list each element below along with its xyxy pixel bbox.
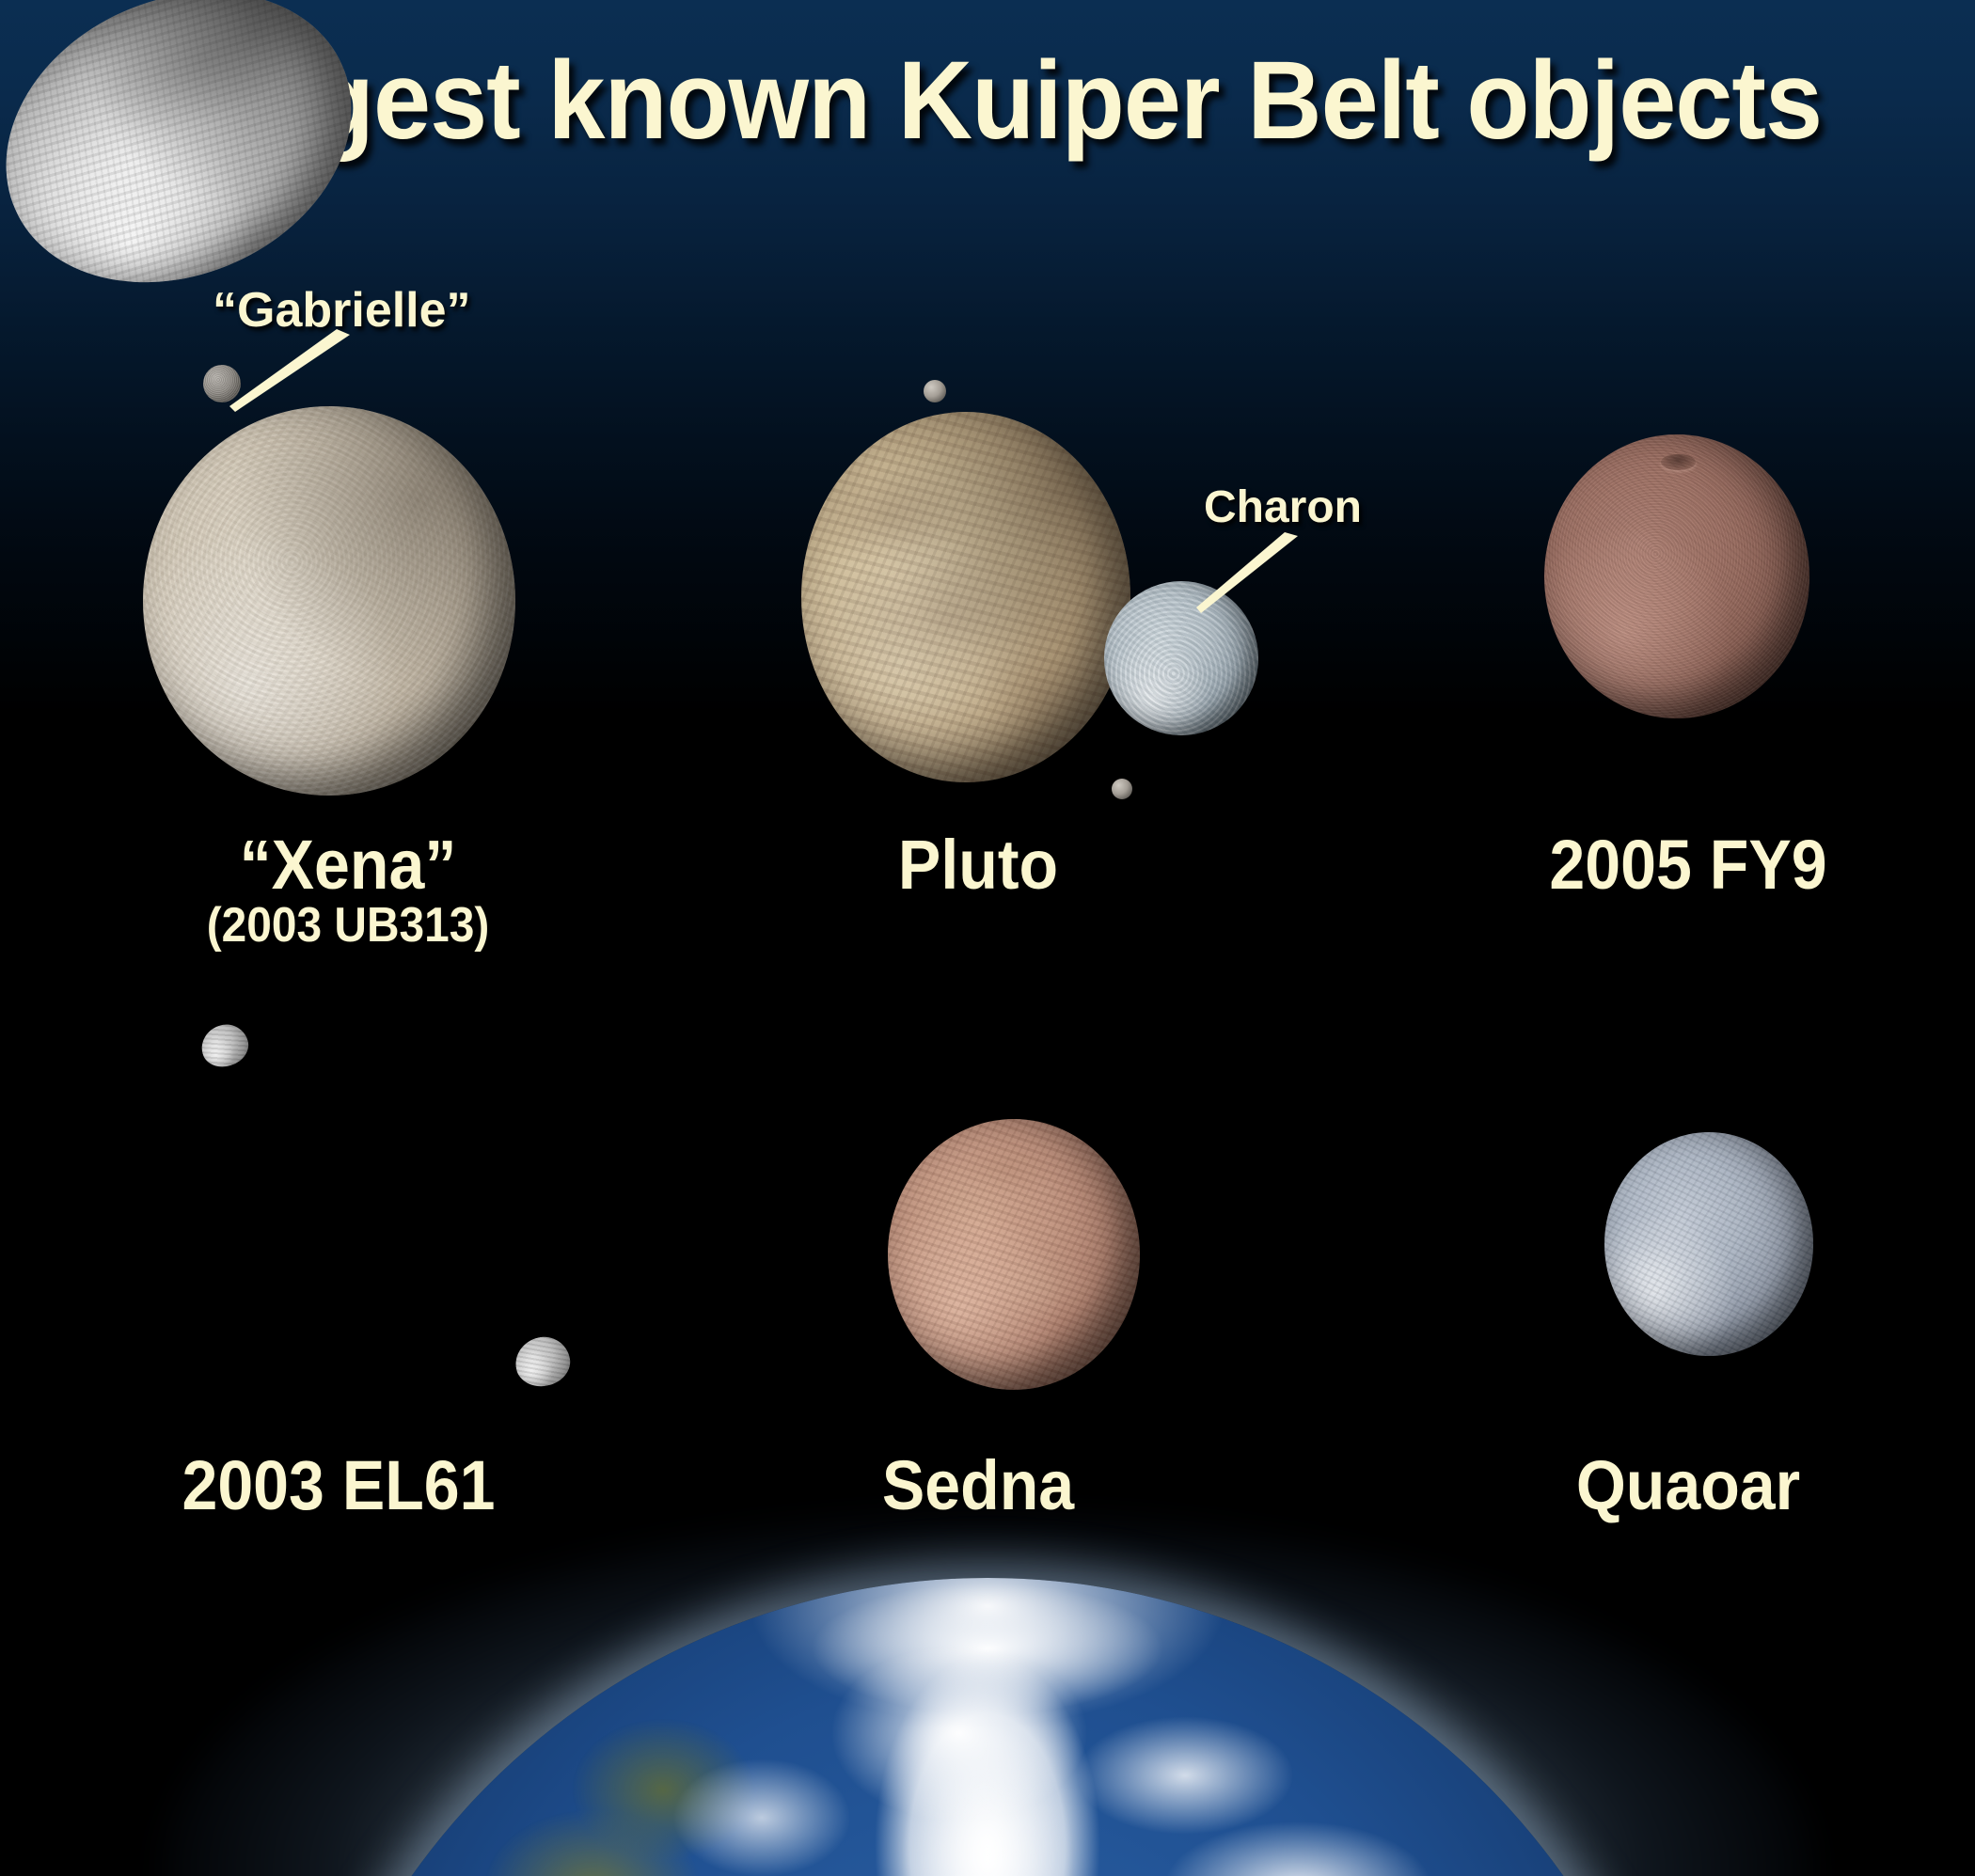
el61-moon2-texture (511, 1332, 575, 1392)
sedna-texture (888, 1119, 1140, 1390)
object-label-sedna: Sedna (797, 1450, 1160, 1521)
object-label-2005-fy9-name: 2005 FY9 (1485, 829, 1891, 900)
object-label-2003-el61: 2003 EL61 (44, 1450, 633, 1521)
object-label-quaoar: Quaoar (1485, 1450, 1891, 1521)
object-label-xena-designation: (2003 UB313) (45, 900, 651, 952)
object-label-xena-name: “Xena” (45, 829, 651, 900)
object-pluto (801, 412, 1130, 782)
pointer-line-charon (1193, 532, 1305, 621)
fy9-texture (1544, 434, 1809, 718)
moon-pluto-nix (924, 380, 946, 402)
pluto-terminator (801, 412, 1130, 782)
object-label-2003-el61-name: 2003 EL61 (44, 1450, 633, 1521)
object-sedna (888, 1119, 1140, 1390)
moon-el61-namaka (196, 1018, 253, 1072)
object-label-quaoar-name: Quaoar (1485, 1450, 1891, 1521)
quaoar-texture (1604, 1132, 1813, 1356)
object-xena (143, 406, 515, 796)
object-label-2005-fy9: 2005 FY9 (1485, 829, 1891, 900)
object-label-sedna-name: Sedna (797, 1450, 1160, 1521)
el61-moon1-texture (196, 1018, 253, 1072)
object-2005-fy9 (1544, 434, 1809, 718)
object-label-xena: “Xena” (2003 UB313) (45, 829, 651, 952)
xena-terminator (143, 406, 515, 796)
moon-pluto-hydra (1112, 779, 1132, 799)
pointer-line-gabrielle (226, 327, 357, 418)
object-label-pluto: Pluto (797, 829, 1160, 900)
moon-el61-hiiaka (511, 1332, 575, 1392)
kuiper-belt-poster: Largest known Kuiper Belt objects “Gabri… (0, 0, 1975, 1876)
object-quaoar (1604, 1132, 1813, 1356)
fy9-crater (1661, 454, 1696, 470)
object-label-pluto-name: Pluto (797, 829, 1160, 900)
callout-label-charon: Charon (1204, 481, 1362, 533)
